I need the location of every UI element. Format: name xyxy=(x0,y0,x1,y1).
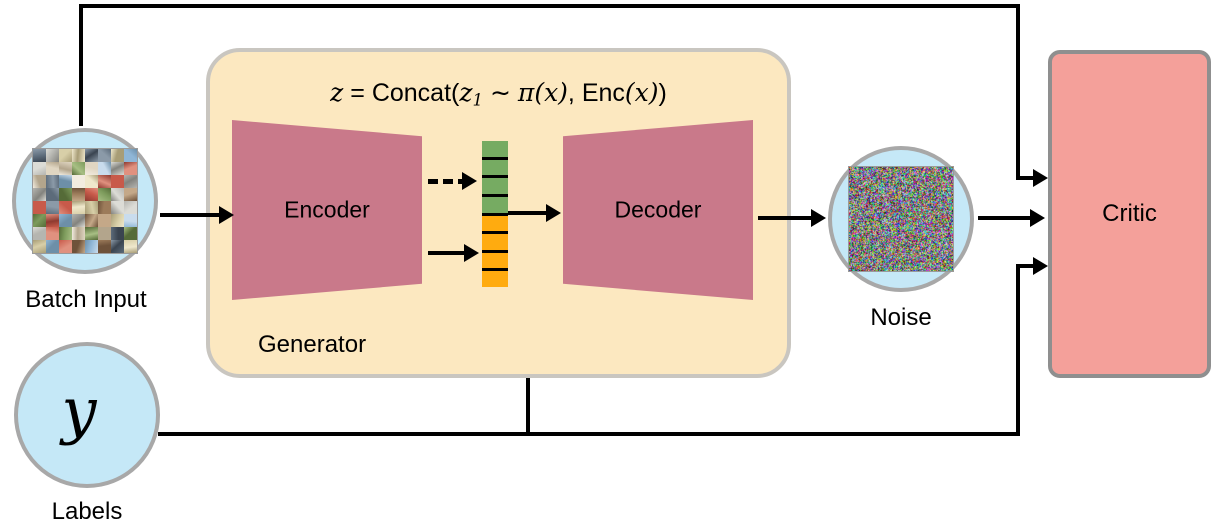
batch-thumbnail xyxy=(72,201,85,214)
arrowhead-latent-to-decoder xyxy=(546,204,561,222)
batch-thumbnail xyxy=(46,227,59,240)
batch-thumbnail xyxy=(72,188,85,201)
formula-comma: , xyxy=(568,79,582,107)
batch-thumbnail xyxy=(72,227,85,240)
formula-lhs: z xyxy=(330,78,343,107)
formula-pi: π xyxy=(518,78,534,107)
arrowhead-encoder-to-latent-sampled xyxy=(462,172,477,190)
generator-label: Generator xyxy=(258,331,366,359)
latent-cell-sampled xyxy=(482,178,508,197)
latent-cell-encoded xyxy=(482,253,508,272)
formula-arg1-subscript: 1 xyxy=(473,91,484,110)
batch-thumbnail xyxy=(111,214,124,227)
arrowhead-batch-to-critic xyxy=(1033,169,1048,187)
encoder-label: Encoder xyxy=(232,197,422,224)
latent-cell-encoded xyxy=(482,216,508,235)
critic-label: Critic xyxy=(1102,200,1157,228)
batch-thumbnail xyxy=(33,188,46,201)
connector-batch-to-critic-right-vertical xyxy=(1016,4,1020,178)
encoder-block: Encoder xyxy=(232,120,422,300)
batch-thumbnail xyxy=(85,162,98,175)
connector-batch-to-critic-left-vertical xyxy=(79,4,83,126)
arrowhead-noise-to-critic xyxy=(1030,209,1045,227)
batch-thumbnail xyxy=(46,149,59,162)
architecture-diagram: z = Concat(z1 ∼ π(x), Enc(x)) Encoder De… xyxy=(0,0,1224,524)
batch-thumbnail xyxy=(111,175,124,188)
node-noise xyxy=(828,146,974,292)
batch-thumbnail xyxy=(46,240,59,253)
batch-thumbnail xyxy=(59,162,72,175)
batch-thumbnail xyxy=(98,149,111,162)
node-critic: Critic xyxy=(1048,50,1211,378)
batch-thumbnail xyxy=(46,214,59,227)
connector-batch-to-encoder xyxy=(160,213,228,217)
batch-thumbnail xyxy=(59,240,72,253)
batch-thumbnail xyxy=(98,227,111,240)
latent-cell-encoded xyxy=(482,271,508,287)
batch-thumbnail xyxy=(72,240,85,253)
batch-thumbnail xyxy=(111,240,124,253)
formula-equals: = xyxy=(343,79,372,107)
connector-decoder-to-noise xyxy=(758,216,818,220)
batch-thumbnail xyxy=(124,227,137,240)
batch-thumbnail xyxy=(72,175,85,188)
labels-symbol: y xyxy=(61,380,96,442)
formula-enc: Enc xyxy=(582,79,625,107)
batch-thumbnail xyxy=(33,175,46,188)
batch-thumbnail xyxy=(111,227,124,240)
noise-image xyxy=(848,166,954,272)
batch-thumbnail xyxy=(72,214,85,227)
batch-thumbnail xyxy=(98,162,111,175)
formula-enc-arg: (x) xyxy=(625,78,659,107)
batch-thumbnail xyxy=(124,188,137,201)
batch-thumbnail xyxy=(59,149,72,162)
batch-thumbnail xyxy=(98,188,111,201)
batch-thumbnail xyxy=(46,188,59,201)
batch-thumbnail xyxy=(59,227,72,240)
batch-thumbnail xyxy=(33,227,46,240)
node-batch-input xyxy=(12,128,158,274)
latent-cell-encoded xyxy=(482,234,508,253)
latent-formula: z = Concat(z1 ∼ π(x), Enc(x)) xyxy=(206,78,791,110)
batch-thumbnail xyxy=(85,201,98,214)
batch-thumbnail xyxy=(46,201,59,214)
batch-thumbnail xyxy=(111,162,124,175)
labels-caption: Labels xyxy=(14,498,160,524)
batch-thumbnail xyxy=(111,149,124,162)
batch-thumbnail xyxy=(124,162,137,175)
formula-tilde: ∼ xyxy=(483,79,518,107)
noise-caption: Noise xyxy=(828,304,974,332)
formula-arg1-var: z xyxy=(459,78,472,107)
batch-thumbnail xyxy=(72,149,85,162)
batch-thumbnail xyxy=(33,201,46,214)
batch-thumbnail xyxy=(85,214,98,227)
arrowhead-labels-to-critic xyxy=(1033,257,1048,275)
batch-thumbnail xyxy=(124,149,137,162)
batch-thumbnail xyxy=(59,175,72,188)
batch-thumbnail xyxy=(85,240,98,253)
decoder-block: Decoder xyxy=(563,120,753,300)
latent-vector xyxy=(482,141,508,287)
batch-thumbnail xyxy=(33,149,46,162)
formula-close-paren: ) xyxy=(659,79,667,107)
decoder-label: Decoder xyxy=(563,197,753,224)
batch-thumbnail xyxy=(124,175,137,188)
arrowhead-batch-to-encoder xyxy=(219,206,234,224)
formula-concat: Concat( xyxy=(372,79,460,107)
batch-thumbnail xyxy=(59,214,72,227)
batch-thumbnail xyxy=(33,214,46,227)
batch-input-caption: Batch Input xyxy=(0,286,172,314)
batch-thumbnail xyxy=(59,188,72,201)
batch-thumbnail xyxy=(33,240,46,253)
batch-thumbnail xyxy=(46,162,59,175)
latent-cell-sampled xyxy=(482,141,508,160)
connector-labels-to-critic-vertical xyxy=(1016,266,1020,436)
connector-labels-to-critic-bottom xyxy=(158,432,1018,436)
batch-thumbnail xyxy=(46,175,59,188)
batch-input-image-grid xyxy=(32,148,138,254)
batch-thumbnail xyxy=(59,201,72,214)
formula-pi-arg: (x) xyxy=(534,78,568,107)
connector-noise-to-critic xyxy=(978,216,1036,220)
batch-thumbnail xyxy=(111,188,124,201)
batch-thumbnail xyxy=(124,201,137,214)
latent-cell-sampled xyxy=(482,197,508,216)
batch-thumbnail xyxy=(124,214,137,227)
batch-thumbnail xyxy=(98,201,111,214)
batch-thumbnail xyxy=(85,149,98,162)
batch-thumbnail xyxy=(85,188,98,201)
batch-thumbnail xyxy=(111,201,124,214)
batch-thumbnail xyxy=(85,175,98,188)
latent-cell-sampled xyxy=(482,160,508,179)
batch-thumbnail xyxy=(98,240,111,253)
batch-thumbnail xyxy=(33,162,46,175)
batch-thumbnail xyxy=(98,214,111,227)
connector-batch-to-critic-top xyxy=(79,4,1020,8)
batch-thumbnail xyxy=(85,227,98,240)
arrowhead-decoder-to-noise xyxy=(811,209,826,227)
batch-thumbnail xyxy=(72,162,85,175)
batch-thumbnail xyxy=(98,175,111,188)
batch-thumbnail xyxy=(124,240,137,253)
arrowhead-encoder-to-latent-encoded xyxy=(464,244,479,262)
node-labels: y xyxy=(14,342,160,488)
